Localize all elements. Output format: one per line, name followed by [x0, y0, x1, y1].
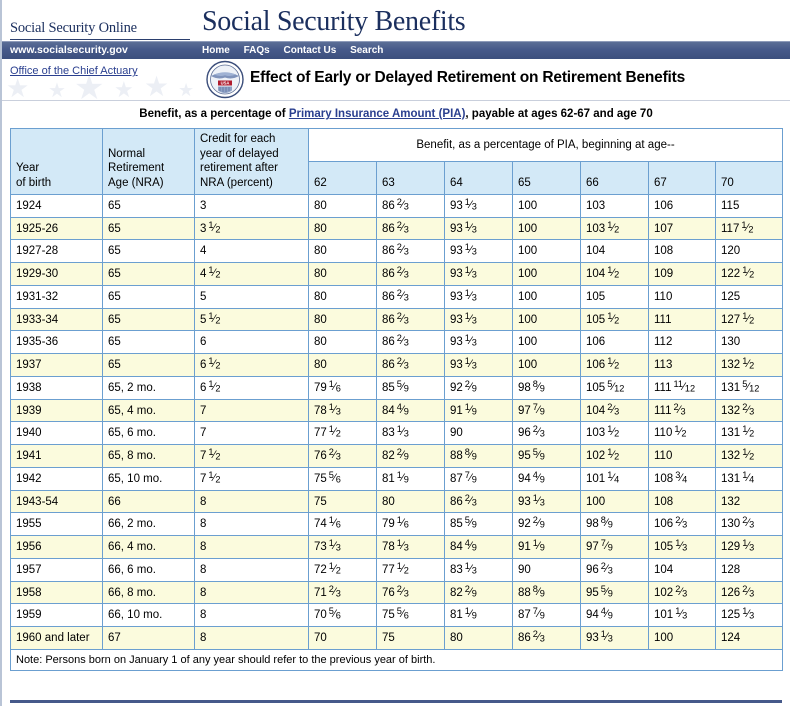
table-row: 195766, 6 mo.8721⁄2771⁄2831⁄390962⁄31041… [11, 558, 783, 581]
fraction: 5⁄9 [397, 380, 409, 394]
cell-benefit-age-65: 977⁄9 [513, 399, 581, 422]
cell-value: 988⁄9 [586, 518, 613, 530]
cell-value: 705⁄6 [314, 609, 341, 621]
cell-benefit-age-70: 125 [716, 285, 783, 308]
cell-value: 1112⁄3 [654, 405, 686, 417]
cell-value: 862⁄3 [382, 291, 409, 303]
col-header-age-70: 70 [716, 161, 783, 194]
fraction: 2⁄3 [397, 585, 409, 599]
fraction: 1⁄2 [208, 312, 220, 326]
cell-normal-retirement-age: 65, 8 mo. [103, 445, 195, 468]
cell-benefit-age-62: 80 [309, 217, 377, 240]
cell-value: 100 [654, 632, 673, 644]
cell-benefit-age-70: 1262⁄3 [716, 581, 783, 604]
cell-benefit-age-64: 822⁄9 [445, 581, 513, 604]
cell-value: 8 [200, 564, 206, 576]
fraction: 2⁄3 [397, 243, 409, 257]
cell-benefit-age-62: 80 [309, 240, 377, 263]
fraction: 5⁄9 [533, 448, 545, 462]
cell-value: 112 [654, 336, 672, 348]
primary-insurance-amount-link[interactable]: Primary Insurance Amount (PIA) [289, 108, 466, 120]
fraction: 1⁄3 [465, 562, 477, 576]
cell-value: 844⁄9 [382, 405, 409, 417]
table-row: 193865, 2 mo.61⁄2791⁄6855⁄9922⁄9988⁄9105… [11, 376, 783, 399]
cell-benefit-age-67: 1011⁄3 [649, 604, 716, 627]
cell-value: 7 [200, 405, 206, 417]
cell-value: 8 [200, 518, 206, 530]
fraction: 1⁄2 [208, 380, 220, 394]
star-icon: ★ [178, 81, 194, 99]
cell-value: 80 [314, 359, 327, 371]
cell-benefit-age-62: 712⁄3 [309, 581, 377, 604]
star-icon: ★ [6, 75, 29, 100]
fraction: 2⁄3 [397, 221, 409, 235]
ssa-seal-icon: USA [206, 60, 244, 99]
cell-benefit-age-62: 80 [309, 263, 377, 286]
cell-value: 3 [200, 200, 206, 212]
cell-benefit-age-70: 124 [716, 627, 783, 650]
cell-benefit-age-66: 100 [581, 490, 649, 513]
cell-benefit-age-67: 104 [649, 558, 716, 581]
cell-value: 888⁄9 [450, 450, 477, 462]
credit-line3: retirement after [200, 162, 278, 174]
cell-benefit-age-63: 75 [377, 627, 445, 650]
cell-benefit-age-63: 811⁄9 [377, 467, 445, 490]
cell-value: 1021⁄2 [586, 450, 619, 462]
fraction: 2⁄9 [397, 448, 409, 462]
cell-normal-retirement-age: 66, 10 mo. [103, 604, 195, 627]
cell-value: 1311⁄2 [721, 427, 754, 439]
cell-value: 944⁄9 [518, 473, 545, 485]
fraction: 11⁄12 [673, 380, 695, 394]
cell-normal-retirement-age: 66, 6 mo. [103, 558, 195, 581]
cell-value: 877⁄9 [518, 609, 545, 621]
cell-benefit-age-70: 132 [716, 490, 783, 513]
table-row: 194065, 6 mo.7771⁄2831⁄390962⁄31031⁄2110… [11, 422, 783, 445]
cell-value: 811⁄9 [382, 473, 409, 485]
fraction: 2⁄3 [607, 403, 619, 417]
fraction: 5⁄6 [329, 471, 341, 485]
cell-value: 931⁄3 [450, 200, 477, 212]
cell-value: 106 [654, 200, 673, 212]
cell-benefit-age-65: 944⁄9 [513, 467, 581, 490]
fraction: 1⁄2 [742, 357, 754, 371]
cell-year-of-birth: 1937 [11, 354, 103, 377]
fraction: 1⁄9 [465, 607, 477, 621]
cell-value: 931⁄3 [518, 496, 545, 508]
cell-value: 855⁄9 [450, 518, 477, 530]
fraction: 2⁄3 [742, 516, 754, 530]
cell-credit-percent: 8 [195, 558, 309, 581]
cell-benefit-age-63: 855⁄9 [377, 376, 445, 399]
table-row: 195566, 2 mo.8741⁄6791⁄6855⁄9922⁄9988⁄91… [11, 513, 783, 536]
cell-benefit-age-67: 1101⁄2 [649, 422, 716, 445]
cell-credit-percent: 8 [195, 604, 309, 627]
cell-benefit-age-70: 115 [716, 194, 783, 217]
cell-benefit-age-64: 931⁄3 [445, 285, 513, 308]
cell-value: 71⁄2 [200, 473, 221, 485]
table-row: 1931-3265580862⁄3931⁄3100105110125 [11, 285, 783, 308]
cell-normal-retirement-age: 65 [103, 285, 195, 308]
cell-benefit-age-66: 1061⁄2 [581, 354, 649, 377]
cell-value: 791⁄6 [314, 382, 341, 394]
cell-benefit-age-62: 771⁄2 [309, 422, 377, 445]
cell-value: 6 [200, 336, 206, 348]
cell-value: 1171⁄2 [721, 223, 753, 235]
cell-value: 962⁄3 [518, 427, 545, 439]
cell-value: 855⁄9 [382, 382, 409, 394]
star-icon: ★ [144, 73, 169, 100]
cell-benefit-age-65: 100 [513, 308, 581, 331]
cell-benefit-age-66: 105 [581, 285, 649, 308]
cell-benefit-age-66: 103 [581, 194, 649, 217]
page-title: Effect of Early or Delayed Retirement on… [250, 69, 685, 87]
cell-benefit-age-66: 944⁄9 [581, 604, 649, 627]
cell-benefit-age-70: 1291⁄3 [716, 536, 783, 559]
table-row: 1960 and later678707580862⁄3931⁄3100124 [11, 627, 783, 650]
cell-benefit-age-66: 104 [581, 240, 649, 263]
cell-value: 128 [721, 564, 740, 576]
fraction: 7⁄9 [533, 607, 545, 621]
cell-benefit-age-66: 988⁄9 [581, 513, 649, 536]
cell-value: 100 [518, 223, 537, 235]
fraction: 1⁄3 [675, 607, 687, 621]
cell-value: 1022⁄3 [654, 587, 687, 599]
cell-value: 125 [721, 291, 740, 303]
nra-line3: Age (NRA) [108, 177, 164, 189]
cell-benefit-age-63: 822⁄9 [377, 445, 445, 468]
cell-value: 106 [586, 336, 605, 348]
cell-benefit-age-65: 100 [513, 240, 581, 263]
cell-benefit-age-67: 111 [649, 308, 716, 331]
fraction: 1⁄2 [329, 562, 341, 576]
cell-benefit-age-64: 931⁄3 [445, 308, 513, 331]
cell-credit-percent: 8 [195, 581, 309, 604]
cell-benefit-age-62: 705⁄6 [309, 604, 377, 627]
col-header-age-63: 63 [377, 161, 445, 194]
cell-benefit-age-65: 911⁄9 [513, 536, 581, 559]
cell-value: 124 [721, 632, 740, 644]
cell-benefit-age-66: 106 [581, 331, 649, 354]
cell-credit-percent: 3 [195, 194, 309, 217]
col-header-age-64: 64 [445, 161, 513, 194]
fraction: 1⁄9 [397, 471, 409, 485]
cell-benefit-age-62: 80 [309, 308, 377, 331]
col-header-age-62: 62 [309, 161, 377, 194]
fraction: 2⁄3 [329, 448, 341, 462]
fraction: 1⁄3 [465, 357, 477, 371]
fraction: 2⁄3 [601, 562, 613, 576]
cell-benefit-age-67: 108 [649, 490, 716, 513]
cell-benefit-age-64: 911⁄9 [445, 399, 513, 422]
fraction: 5⁄6 [397, 607, 409, 621]
fraction: 1⁄6 [329, 380, 341, 394]
fraction: 1⁄2 [742, 312, 754, 326]
cell-benefit-age-66: 1031⁄2 [581, 422, 649, 445]
cell-year-of-birth: 1957 [11, 558, 103, 581]
cell-value: 862⁄3 [382, 200, 409, 212]
table-caption: Benefit, as a percentage of Primary Insu… [2, 108, 790, 120]
cell-benefit-age-64: 931⁄3 [445, 217, 513, 240]
cell-value: 11111⁄12 [654, 382, 695, 394]
cell-benefit-age-62: 791⁄6 [309, 376, 377, 399]
cell-value: 132 [721, 496, 740, 508]
cell-benefit-age-65: 100 [513, 263, 581, 286]
cell-year-of-birth: 1935-36 [11, 331, 103, 354]
fraction: 1⁄9 [465, 403, 477, 417]
table-row: 195966, 10 mo.8705⁄6755⁄6811⁄9877⁄9944⁄9… [11, 604, 783, 627]
cell-benefit-age-65: 955⁄9 [513, 445, 581, 468]
fraction: 1⁄2 [607, 357, 619, 371]
cell-value: 931⁄3 [450, 336, 477, 348]
cell-benefit-age-67: 113 [649, 354, 716, 377]
fraction: 1⁄6 [329, 516, 341, 530]
cell-value: 862⁄3 [382, 223, 409, 235]
table-row: 1925-266531⁄280862⁄3931⁄31001031⁄2107117… [11, 217, 783, 240]
fraction: 1⁄3 [329, 539, 341, 553]
table-row: 193965, 4 mo.7781⁄3844⁄9911⁄9977⁄91042⁄3… [11, 399, 783, 422]
cell-value: 4 [200, 245, 206, 257]
cell-benefit-age-67: 1022⁄3 [649, 581, 716, 604]
nav-link-contact-us[interactable]: Contact Us [283, 45, 336, 56]
cell-benefit-age-62: 80 [309, 194, 377, 217]
cell-benefit-age-67: 106 [649, 194, 716, 217]
cell-year-of-birth: 1940 [11, 422, 103, 445]
fraction: 2⁄3 [329, 585, 341, 599]
fraction: 5⁄9 [601, 585, 613, 599]
cell-year-of-birth: 1933-34 [11, 308, 103, 331]
cell-value: 731⁄3 [314, 541, 341, 553]
fraction: 1⁄2 [397, 562, 409, 576]
cell-benefit-age-64: 90 [445, 422, 513, 445]
cell-year-of-birth: 1955 [11, 513, 103, 536]
cell-value: 113 [654, 359, 672, 371]
cell-benefit-age-70: 120 [716, 240, 783, 263]
fraction: 1⁄2 [607, 312, 619, 326]
fraction: 1⁄3 [465, 198, 477, 212]
cell-value: 955⁄9 [586, 587, 613, 599]
cell-value: 771⁄2 [314, 427, 341, 439]
fraction: 7⁄9 [465, 471, 477, 485]
cell-benefit-age-63: 762⁄3 [377, 581, 445, 604]
cell-value: 922⁄9 [518, 518, 545, 530]
cell-value: 110 [654, 291, 672, 303]
cell-value: 105 [586, 291, 605, 303]
cell-value: 791⁄6 [382, 518, 409, 530]
cell-value: 80 [314, 223, 327, 235]
cell-value: 75 [314, 496, 327, 508]
fraction: 1⁄2 [741, 221, 753, 235]
fraction: 5⁄12 [742, 380, 759, 394]
cell-normal-retirement-age: 65 [103, 263, 195, 286]
table-row: 194165, 8 mo.71⁄2762⁄3822⁄9888⁄9955⁄9102… [11, 445, 783, 468]
fraction: 1⁄2 [208, 221, 220, 235]
cell-credit-percent: 71⁄2 [195, 445, 309, 468]
cell-value: 80 [314, 200, 327, 212]
cell-value: 111 [654, 314, 671, 326]
cell-value: 781⁄3 [314, 405, 341, 417]
fraction: 4⁄9 [397, 403, 409, 417]
fraction: 5⁄6 [329, 607, 341, 621]
cell-value: 844⁄9 [450, 541, 477, 553]
fraction: 2⁄3 [397, 334, 409, 348]
caption-text-after: , payable at ages 62-67 and age 70 [465, 108, 652, 120]
fraction: 1⁄2 [607, 425, 619, 439]
cell-value: 8 [200, 632, 206, 644]
cell-value: 1251⁄3 [721, 609, 754, 621]
cell-year-of-birth: 1931-32 [11, 285, 103, 308]
cell-benefit-age-62: 80 [309, 285, 377, 308]
cell-benefit-age-64: 877⁄9 [445, 467, 513, 490]
table-row: 195666, 4 mo.8731⁄3781⁄3844⁄9911⁄9977⁄91… [11, 536, 783, 559]
cell-value: 822⁄9 [450, 587, 477, 599]
col-header-benefit-span: Benefit, as a percentage of PIA, beginni… [309, 129, 783, 162]
cell-benefit-age-63: 862⁄3 [377, 331, 445, 354]
cell-credit-percent: 5 [195, 285, 309, 308]
cell-benefit-age-64: 844⁄9 [445, 536, 513, 559]
col-header-credit-per-year-delayed: Credit for each year of delayed retireme… [195, 129, 309, 195]
cell-value: 130 [721, 336, 740, 348]
fraction: 1⁄3 [465, 266, 477, 280]
cell-value: 100 [586, 496, 605, 508]
cell-value: 61⁄2 [200, 359, 221, 371]
fraction: 8⁄9 [465, 448, 477, 462]
cell-value: 712⁄3 [314, 587, 341, 599]
cell-value: 1011⁄4 [586, 473, 619, 485]
cell-benefit-age-66: 1051⁄2 [581, 308, 649, 331]
cell-benefit-age-64: 931⁄3 [445, 331, 513, 354]
cell-benefit-age-62: 731⁄3 [309, 536, 377, 559]
footer-bar [10, 700, 782, 703]
cell-benefit-age-70: 1322⁄3 [716, 399, 783, 422]
table-row: 1943-546687580862⁄3931⁄3100108132 [11, 490, 783, 513]
cell-value: 41⁄2 [200, 268, 221, 280]
cell-benefit-age-67: 108 [649, 240, 716, 263]
fraction: 1⁄3 [465, 289, 477, 303]
cell-year-of-birth: 1956 [11, 536, 103, 559]
cell-value: 911⁄9 [450, 405, 477, 417]
cell-value: 741⁄6 [314, 518, 341, 530]
cell-benefit-age-66: 1042⁄3 [581, 399, 649, 422]
fraction: 2⁄9 [533, 516, 545, 530]
cell-normal-retirement-age: 66 [103, 490, 195, 513]
cell-credit-percent: 8 [195, 513, 309, 536]
cell-value: 755⁄6 [382, 609, 409, 621]
cell-value: 61⁄2 [200, 382, 221, 394]
cell-benefit-age-64: 922⁄9 [445, 376, 513, 399]
cell-value: 888⁄9 [518, 587, 545, 599]
cell-benefit-age-62: 80 [309, 331, 377, 354]
cell-benefit-age-63: 755⁄6 [377, 604, 445, 627]
cell-value: 1321⁄2 [721, 359, 754, 371]
fraction: 2⁄3 [397, 198, 409, 212]
cell-value: 931⁄3 [450, 291, 477, 303]
fraction: 2⁄3 [673, 403, 685, 417]
fraction: 1⁄3 [601, 630, 613, 644]
cell-value: 1055⁄12 [586, 382, 624, 394]
table-row: 192465380862⁄3931⁄3100103106115 [11, 194, 783, 217]
cell-benefit-age-66: 962⁄3 [581, 558, 649, 581]
office-of-chief-actuary-link[interactable]: Office of the Chief Actuary [10, 65, 138, 77]
cell-benefit-age-70: 128 [716, 558, 783, 581]
star-icon: ★ [48, 81, 66, 100]
svg-text:USA: USA [221, 81, 230, 86]
cell-value: 831⁄3 [382, 427, 409, 439]
domain-label: www.socialsecurity.gov [10, 44, 128, 56]
cell-benefit-age-63: 862⁄3 [377, 240, 445, 263]
fraction: 8⁄9 [533, 585, 545, 599]
cell-value: 1041⁄2 [586, 268, 619, 280]
nav-link-search[interactable]: Search [350, 45, 383, 56]
col-header-age-65: 65 [513, 161, 581, 194]
cell-value: 104 [654, 564, 673, 576]
fraction: 2⁄3 [742, 403, 754, 417]
fraction: 2⁄3 [675, 516, 687, 530]
cell-value: 931⁄3 [586, 632, 613, 644]
fraction: 2⁄3 [675, 585, 687, 599]
fraction: 1⁄3 [465, 334, 477, 348]
cell-benefit-age-65: 888⁄9 [513, 581, 581, 604]
nav-link-home[interactable]: Home [202, 45, 230, 56]
cell-normal-retirement-age: 65 [103, 194, 195, 217]
cell-value: 1311⁄4 [721, 473, 754, 485]
cell-benefit-age-63: 862⁄3 [377, 263, 445, 286]
cell-value: 955⁄9 [518, 450, 545, 462]
cell-benefit-age-64: 80 [445, 627, 513, 650]
cell-value: 931⁄3 [450, 359, 477, 371]
stars-decoration: ★ ★ ★ ★ ★ ★ Office of the Chief Actuary [2, 59, 200, 100]
cell-value: 108 [654, 245, 673, 257]
cell-benefit-age-65: 100 [513, 285, 581, 308]
cell-value: 1011⁄3 [654, 609, 687, 621]
cell-benefit-age-70: 130 [716, 331, 783, 354]
cell-normal-retirement-age: 65 [103, 240, 195, 263]
cell-benefit-age-65: 100 [513, 194, 581, 217]
cell-value: 862⁄3 [382, 336, 409, 348]
cell-benefit-age-67: 110 [649, 445, 716, 468]
credit-line2: year of delayed [200, 148, 279, 160]
fraction: 2⁄9 [465, 380, 477, 394]
credit-line1: Credit for each [200, 133, 275, 145]
cell-normal-retirement-age: 66, 4 mo. [103, 536, 195, 559]
cell-benefit-age-62: 721⁄2 [309, 558, 377, 581]
cell-benefit-age-67: 1112⁄3 [649, 399, 716, 422]
nav-links: Home FAQs Contact Us Search [202, 45, 394, 56]
cell-year-of-birth: 1929-30 [11, 263, 103, 286]
cell-normal-retirement-age: 65 [103, 308, 195, 331]
cell-credit-percent: 61⁄2 [195, 354, 309, 377]
table-header-row-1: Year of birth Normal Retirement Age (NRA… [11, 129, 783, 162]
cell-benefit-age-64: 831⁄3 [445, 558, 513, 581]
cell-benefit-age-70: 1311⁄2 [716, 422, 783, 445]
fraction: 7⁄9 [601, 539, 613, 553]
fraction: 1⁄2 [208, 357, 220, 371]
cell-benefit-age-66: 931⁄3 [581, 627, 649, 650]
cell-value: 721⁄2 [314, 564, 341, 576]
cell-benefit-age-67: 1062⁄3 [649, 513, 716, 536]
cell-value: 977⁄9 [518, 405, 545, 417]
fraction: 2⁄3 [533, 630, 545, 644]
cell-value: 1051⁄3 [654, 541, 687, 553]
fraction: 1⁄3 [465, 312, 477, 326]
cell-value: 911⁄9 [518, 541, 545, 553]
fraction: 2⁄3 [742, 585, 754, 599]
cell-value: 51⁄2 [200, 314, 221, 326]
cell-normal-retirement-age: 66, 2 mo. [103, 513, 195, 536]
nav-link-faqs[interactable]: FAQs [244, 45, 270, 56]
cell-normal-retirement-age: 65, 10 mo. [103, 467, 195, 490]
cell-credit-percent: 8 [195, 627, 309, 650]
